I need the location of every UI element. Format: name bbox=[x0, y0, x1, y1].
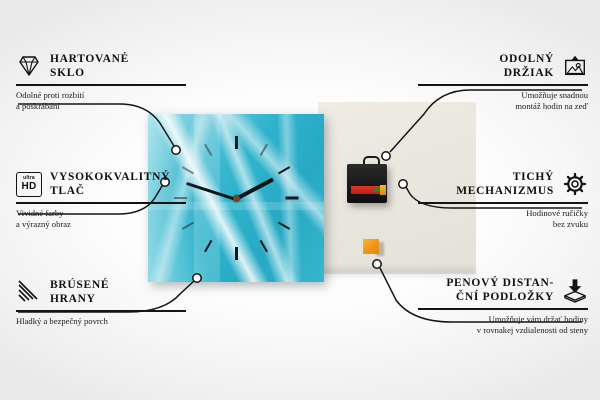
picture-hanger-icon bbox=[562, 53, 588, 79]
feature-divider bbox=[16, 84, 186, 86]
feature-description: Odolné proti rozbití a poškrábání bbox=[16, 90, 186, 113]
feature-header: ODOLNÝ DRŽIAK bbox=[418, 52, 588, 80]
feature-divider bbox=[418, 202, 588, 204]
gear-icon bbox=[562, 171, 588, 197]
feature-header: ultra HD VYSOKOKVALITNÝ TLAČ bbox=[16, 170, 186, 198]
polished-edges-icon bbox=[16, 279, 42, 305]
feature-description: Umožňuje vám držať hodiny v rovnakej vzd… bbox=[418, 314, 588, 337]
feature-hardened-glass: HARTOVANÉ SKLO Odolné proti rozbití a po… bbox=[16, 52, 186, 113]
feature-title: PENOVÝ DISTAN- ČNÍ PODLOŽKY bbox=[446, 276, 554, 304]
feature-description: Umožňuje snadnou montáž hodin na zeď bbox=[418, 90, 588, 113]
battery-terminal bbox=[380, 185, 386, 195]
ultra-hd-badge-icon: ultra HD bbox=[16, 171, 42, 197]
feature-divider bbox=[16, 310, 186, 312]
feature-silent-mechanism: TICHÝ MECHANIZMUS Hodinové ručičky bez z… bbox=[418, 170, 588, 231]
feature-title: ODOLNÝ DRŽIAK bbox=[499, 52, 554, 80]
feature-header: PENOVÝ DISTAN- ČNÍ PODLOŽKY bbox=[418, 276, 588, 304]
feature-description: Vividné farby a výrazný obraz bbox=[16, 208, 186, 231]
feature-title: TICHÝ MECHANIZMUS bbox=[456, 170, 554, 198]
battery-contact bbox=[374, 187, 379, 192]
feature-title: VYSOKOKVALITNÝ TLAČ bbox=[50, 170, 170, 198]
feature-durable-hanger: ODOLNÝ DRŽIAK Umožňuje snadnou montáž ho… bbox=[418, 52, 588, 113]
feature-divider bbox=[16, 202, 186, 204]
feature-divider bbox=[418, 84, 588, 86]
feature-foam-spacers: PENOVÝ DISTAN- ČNÍ PODLOŽKY Umožňuje vám… bbox=[418, 276, 588, 337]
feature-high-quality-print: ultra HD VYSOKOKVALITNÝ TLAČ Vividné far… bbox=[16, 170, 186, 231]
feature-title: BRÚSENÉ HRANY bbox=[50, 278, 109, 306]
feature-divider bbox=[418, 308, 588, 310]
feature-description: Hodinové ručičky bez zvuku bbox=[418, 208, 588, 231]
foam-spacer-pad bbox=[363, 239, 379, 254]
ultra-hd-badge-main-text: HD bbox=[21, 182, 36, 192]
feature-header: HARTOVANÉ SKLO bbox=[16, 52, 186, 80]
clock-mechanism bbox=[347, 164, 387, 203]
infographic-page: HARTOVANÉ SKLO Odolné proti rozbití a po… bbox=[0, 0, 600, 400]
feature-header: TICHÝ MECHANIZMUS bbox=[418, 170, 588, 198]
diamond-icon bbox=[16, 53, 42, 79]
feature-header: BRÚSENÉ HRANY bbox=[16, 278, 186, 306]
feature-polished-edges: BRÚSENÉ HRANY Hladký a bezpečný povrch bbox=[16, 278, 186, 327]
feature-title: HARTOVANÉ SKLO bbox=[50, 52, 129, 80]
feature-description: Hladký a bezpečný povrch bbox=[16, 316, 186, 328]
foam-spacer-icon bbox=[562, 277, 588, 303]
